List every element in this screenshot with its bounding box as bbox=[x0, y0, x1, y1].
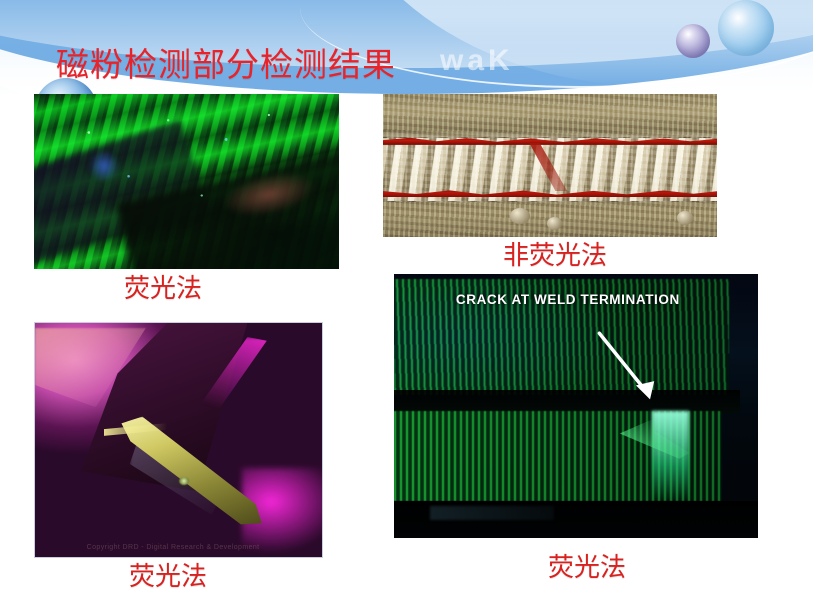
sphere-icon-small bbox=[676, 24, 710, 58]
photo-fluorescent-bevel bbox=[34, 94, 339, 269]
photo-uv-notch: Copyright DRD - Digital Research & Devel… bbox=[34, 322, 323, 558]
arrow-pointer-icon bbox=[583, 329, 678, 413]
slide-canvas: word waK 磁粉检测部分检测结果 荧光法 非荧光法 bbox=[0, 0, 813, 601]
photo-1-layer-specks bbox=[34, 94, 339, 269]
photo-crack-weld-termination: CRACK AT WELD TERMINATION bbox=[394, 274, 758, 538]
photo-2-layer-spatter-2 bbox=[547, 217, 562, 230]
photo-caption-uv-notch: 荧光法 bbox=[129, 556, 207, 593]
sphere-icon-large bbox=[718, 0, 774, 56]
photo-4-overlay-label: CRACK AT WELD TERMINATION bbox=[456, 292, 680, 307]
photo-caption-nonfluorescent-weld: 非荧光法 bbox=[503, 235, 607, 272]
page-title: 磁粉检测部分检测结果 bbox=[56, 38, 396, 86]
header-watermark-secondary: waK bbox=[440, 44, 514, 78]
photo-caption-fluorescent-bevel: 荧光法 bbox=[124, 268, 202, 305]
photo-caption-crack-weld-termination: 荧光法 bbox=[548, 547, 626, 584]
photo-4-layer-bottom-bar bbox=[430, 506, 554, 519]
photo-nonfluorescent-weld bbox=[383, 94, 717, 237]
photo-3-copyright-text: Copyright DRD - Digital Research & Devel… bbox=[87, 544, 294, 551]
